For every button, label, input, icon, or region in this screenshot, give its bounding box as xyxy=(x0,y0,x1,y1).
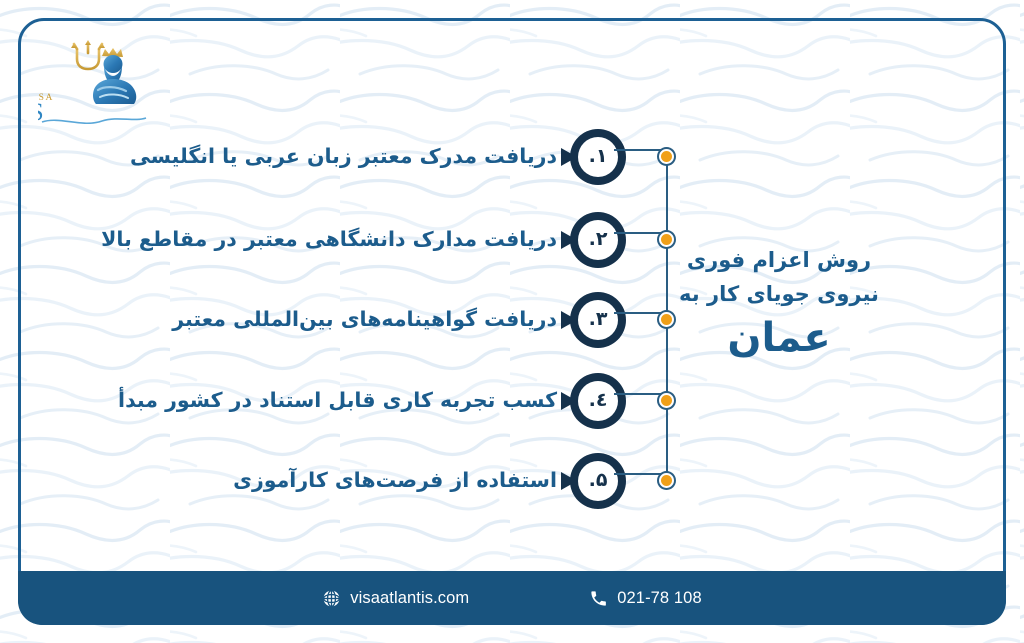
title-country: عمان xyxy=(664,313,894,363)
brand-logo: VISA ATLANTIS xyxy=(38,36,150,124)
logo-atlantis-text: ATLANTIS xyxy=(38,99,44,124)
globe-icon xyxy=(322,589,341,608)
footer-bar: visaatlantis.com 021-78 108 xyxy=(18,571,1006,625)
poster-title: روش اعزام فوری نیروی جویای کار به عمان xyxy=(664,243,894,363)
title-line-2: نیروی جویای کار به xyxy=(664,277,894,311)
title-line-1: روش اعزام فوری xyxy=(664,243,894,277)
phone-icon xyxy=(589,589,608,608)
footer-website-text: visaatlantis.com xyxy=(350,589,469,608)
footer-website[interactable]: visaatlantis.com xyxy=(322,589,469,608)
footer-phone[interactable]: 021-78 108 xyxy=(589,589,702,608)
footer-phone-text: 021-78 108 xyxy=(617,589,702,608)
poster-canvas: VISA ATLANTIS روش اعزام فوری نیروی جویای… xyxy=(0,0,1024,643)
